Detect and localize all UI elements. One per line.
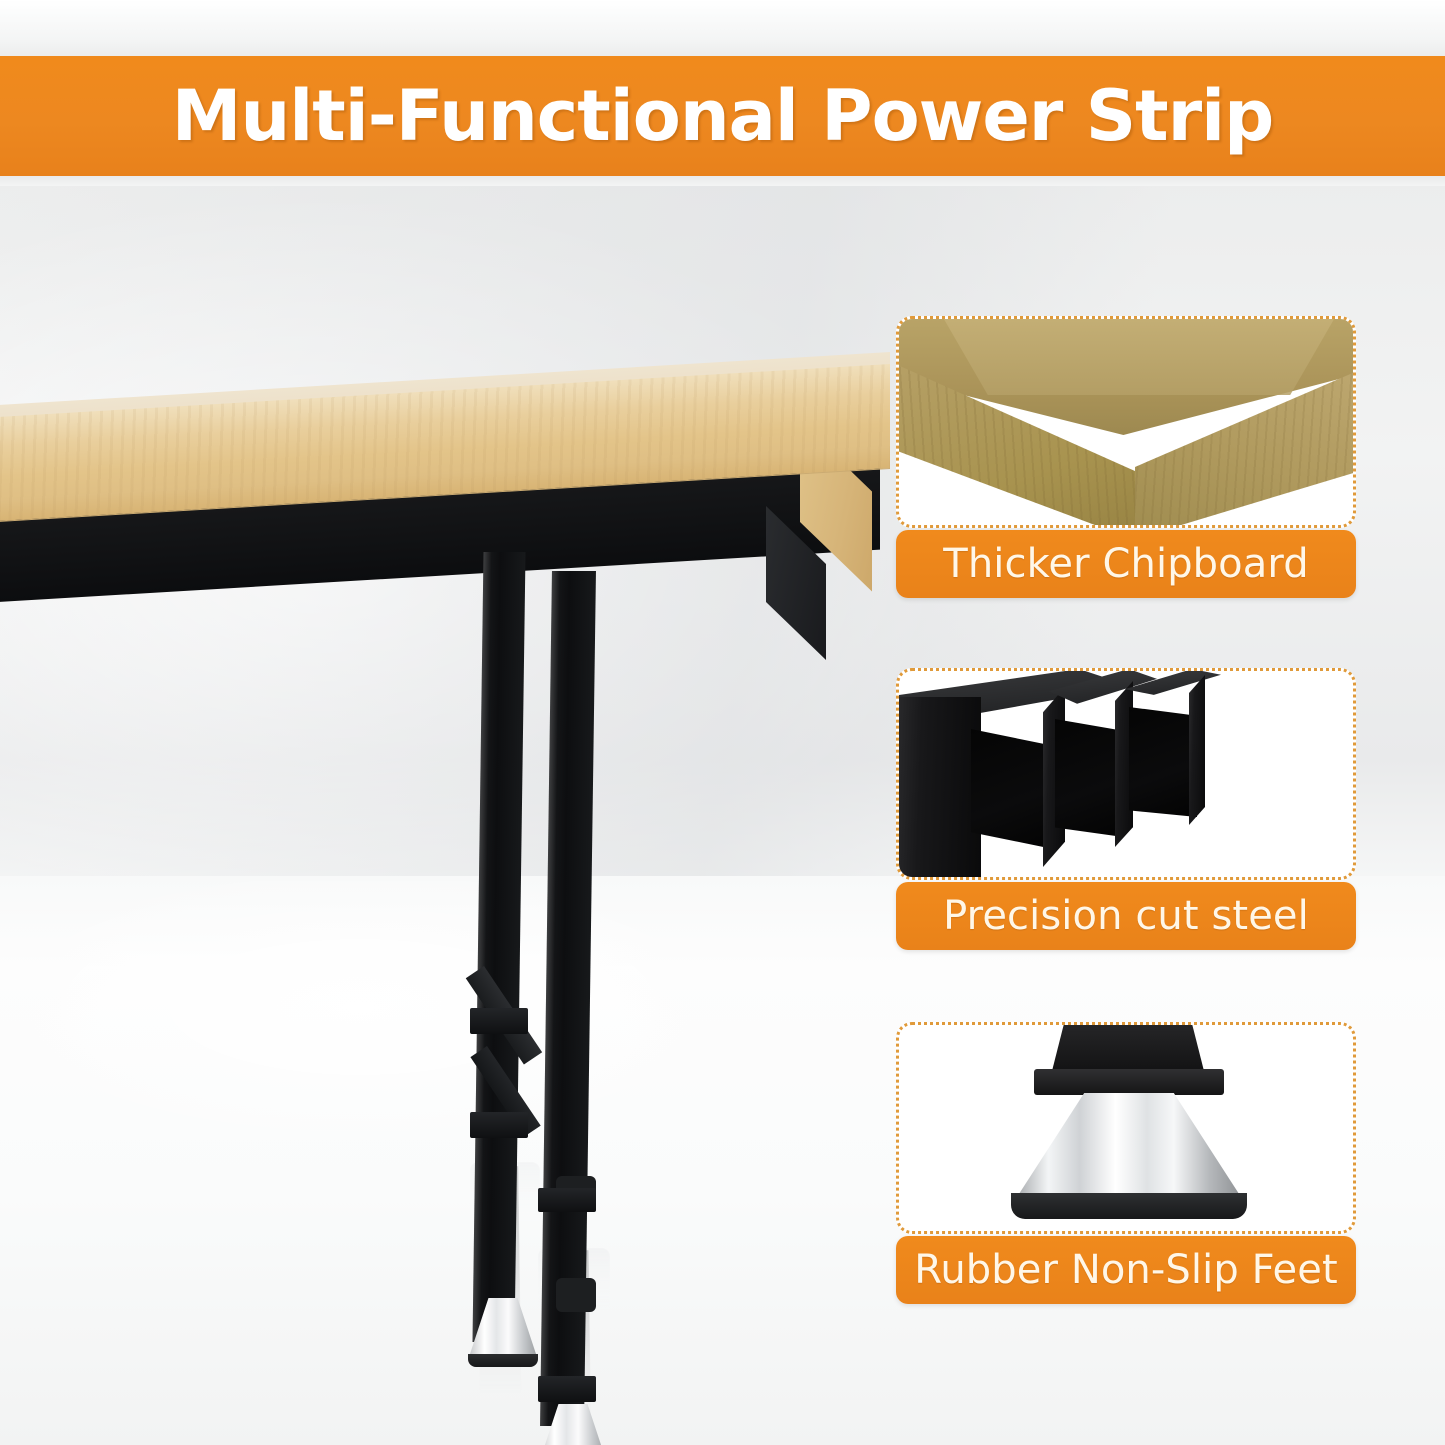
workbench-illustration [0, 176, 900, 1445]
leg-adjuster-collar-back-upper [470, 1008, 528, 1034]
page-title: Multi-Functional Power Strip [172, 75, 1273, 157]
leveling-foot-back [470, 1298, 538, 1367]
foot-black-plate [1034, 1069, 1224, 1095]
steel-label-bar: Precision cut steel [896, 882, 1356, 950]
rubber-feet-label-bar: Rubber Non-Slip Feet [896, 1236, 1356, 1304]
leg-adjuster-collar-front-upper [538, 1188, 596, 1212]
steel-tube-1-bore [971, 729, 1053, 849]
steel-label-text: Precision cut steel [943, 893, 1309, 939]
chipboard-corner-image [896, 316, 1356, 528]
banner-bottom-strip [0, 176, 1445, 186]
foot-rubber-base [1011, 1193, 1247, 1219]
wood-bevel-edge [929, 316, 1349, 395]
leveling-foot-front [540, 1404, 608, 1445]
leg-adjuster-collar-front-lower [538, 1376, 596, 1402]
rubber-feet-label-text: Rubber Non-Slip Feet [914, 1247, 1338, 1293]
leg-adjuster-knob-front-lower [556, 1278, 596, 1312]
chipboard-label-bar: Thicker Chipboard [896, 530, 1356, 598]
steel-tubes-image [896, 668, 1356, 880]
leg-adjuster-collar-back-lower [470, 1112, 528, 1138]
steel-tube-3-bore [1129, 707, 1197, 817]
foot-chrome-cone [1017, 1093, 1241, 1197]
foot-black-cap [1052, 1023, 1204, 1071]
chipboard-label-text: Thicker Chipboard [943, 541, 1308, 587]
top-white-strip [0, 0, 1445, 56]
feature-card-chipboard[interactable]: Thicker Chipboard [896, 316, 1356, 598]
feature-card-steel[interactable]: Precision cut steel [896, 668, 1356, 950]
feature-card-rubber-feet[interactable]: Rubber Non-Slip Feet [896, 1022, 1356, 1304]
title-banner: Multi-Functional Power Strip [0, 56, 1445, 176]
steel-tube-3-side [1189, 675, 1205, 825]
steel-tube-2-bore [1055, 719, 1123, 837]
product-infographic: Multi-Functional Power Strip Thicker Chi… [0, 0, 1445, 1445]
rubber-foot-image [896, 1022, 1356, 1234]
steel-tube-1-face [896, 697, 981, 877]
